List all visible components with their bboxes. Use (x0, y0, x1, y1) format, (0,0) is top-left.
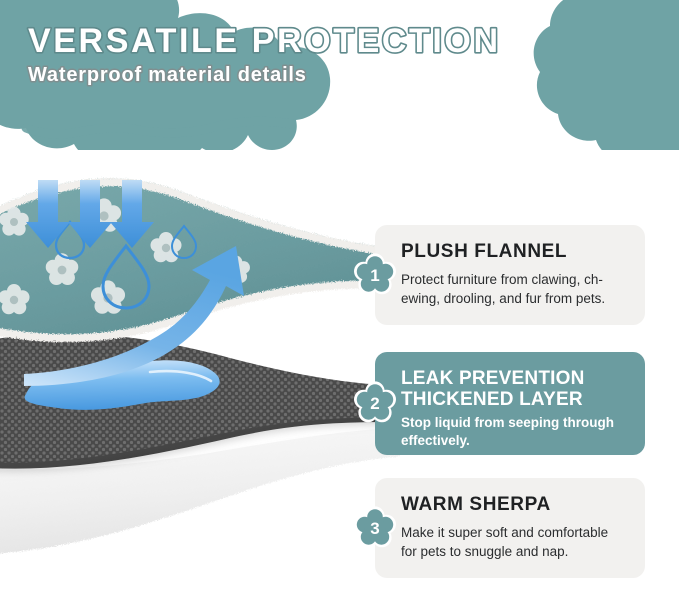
step-badge-2: 2 (352, 380, 398, 426)
header-text: .t-main { font-family: "Liberation Sans"… (0, 0, 679, 150)
card-title: LEAK PREVENTION THICKENED LAYER (401, 368, 625, 411)
card-description: Protect furniture from clawing, ch-ewing… (401, 271, 625, 308)
step-number: 3 (370, 519, 379, 538)
feature-card-warm-sherpa[interactable]: WARM SHERPA Make it super soft and comfo… (375, 478, 645, 578)
card-title: PLUSH FLANNEL (401, 241, 625, 262)
layered-fabric-illustration (0, 150, 400, 604)
step-badge-1: 1 (352, 252, 398, 298)
step-number: 2 (370, 394, 379, 413)
header-title-fill: VERSATILE PROTECTION (28, 22, 501, 60)
infographic-canvas: .t-main { font-family: "Liberation Sans"… (0, 0, 679, 604)
step-number: 1 (370, 266, 379, 285)
header-subtitle-fill: Waterproof material details (28, 64, 307, 86)
step-badge-3: 3 (352, 505, 398, 551)
water-incoming-arrows (26, 180, 154, 248)
feature-card-leak-prevention[interactable]: LEAK PREVENTION THICKENED LAYER Stop liq… (375, 352, 645, 455)
card-description: Stop liquid from seeping through effecti… (401, 414, 625, 451)
header-title-art: .t-main { font-family: "Liberation Sans"… (0, 0, 679, 150)
card-description: Make it super soft and comfortable for p… (401, 524, 625, 561)
header-band: .t-main { font-family: "Liberation Sans"… (0, 0, 679, 150)
card-title: WARM SHERPA (401, 494, 625, 515)
feature-card-plush-flannel[interactable]: PLUSH FLANNEL Protect furniture from cla… (375, 225, 645, 325)
